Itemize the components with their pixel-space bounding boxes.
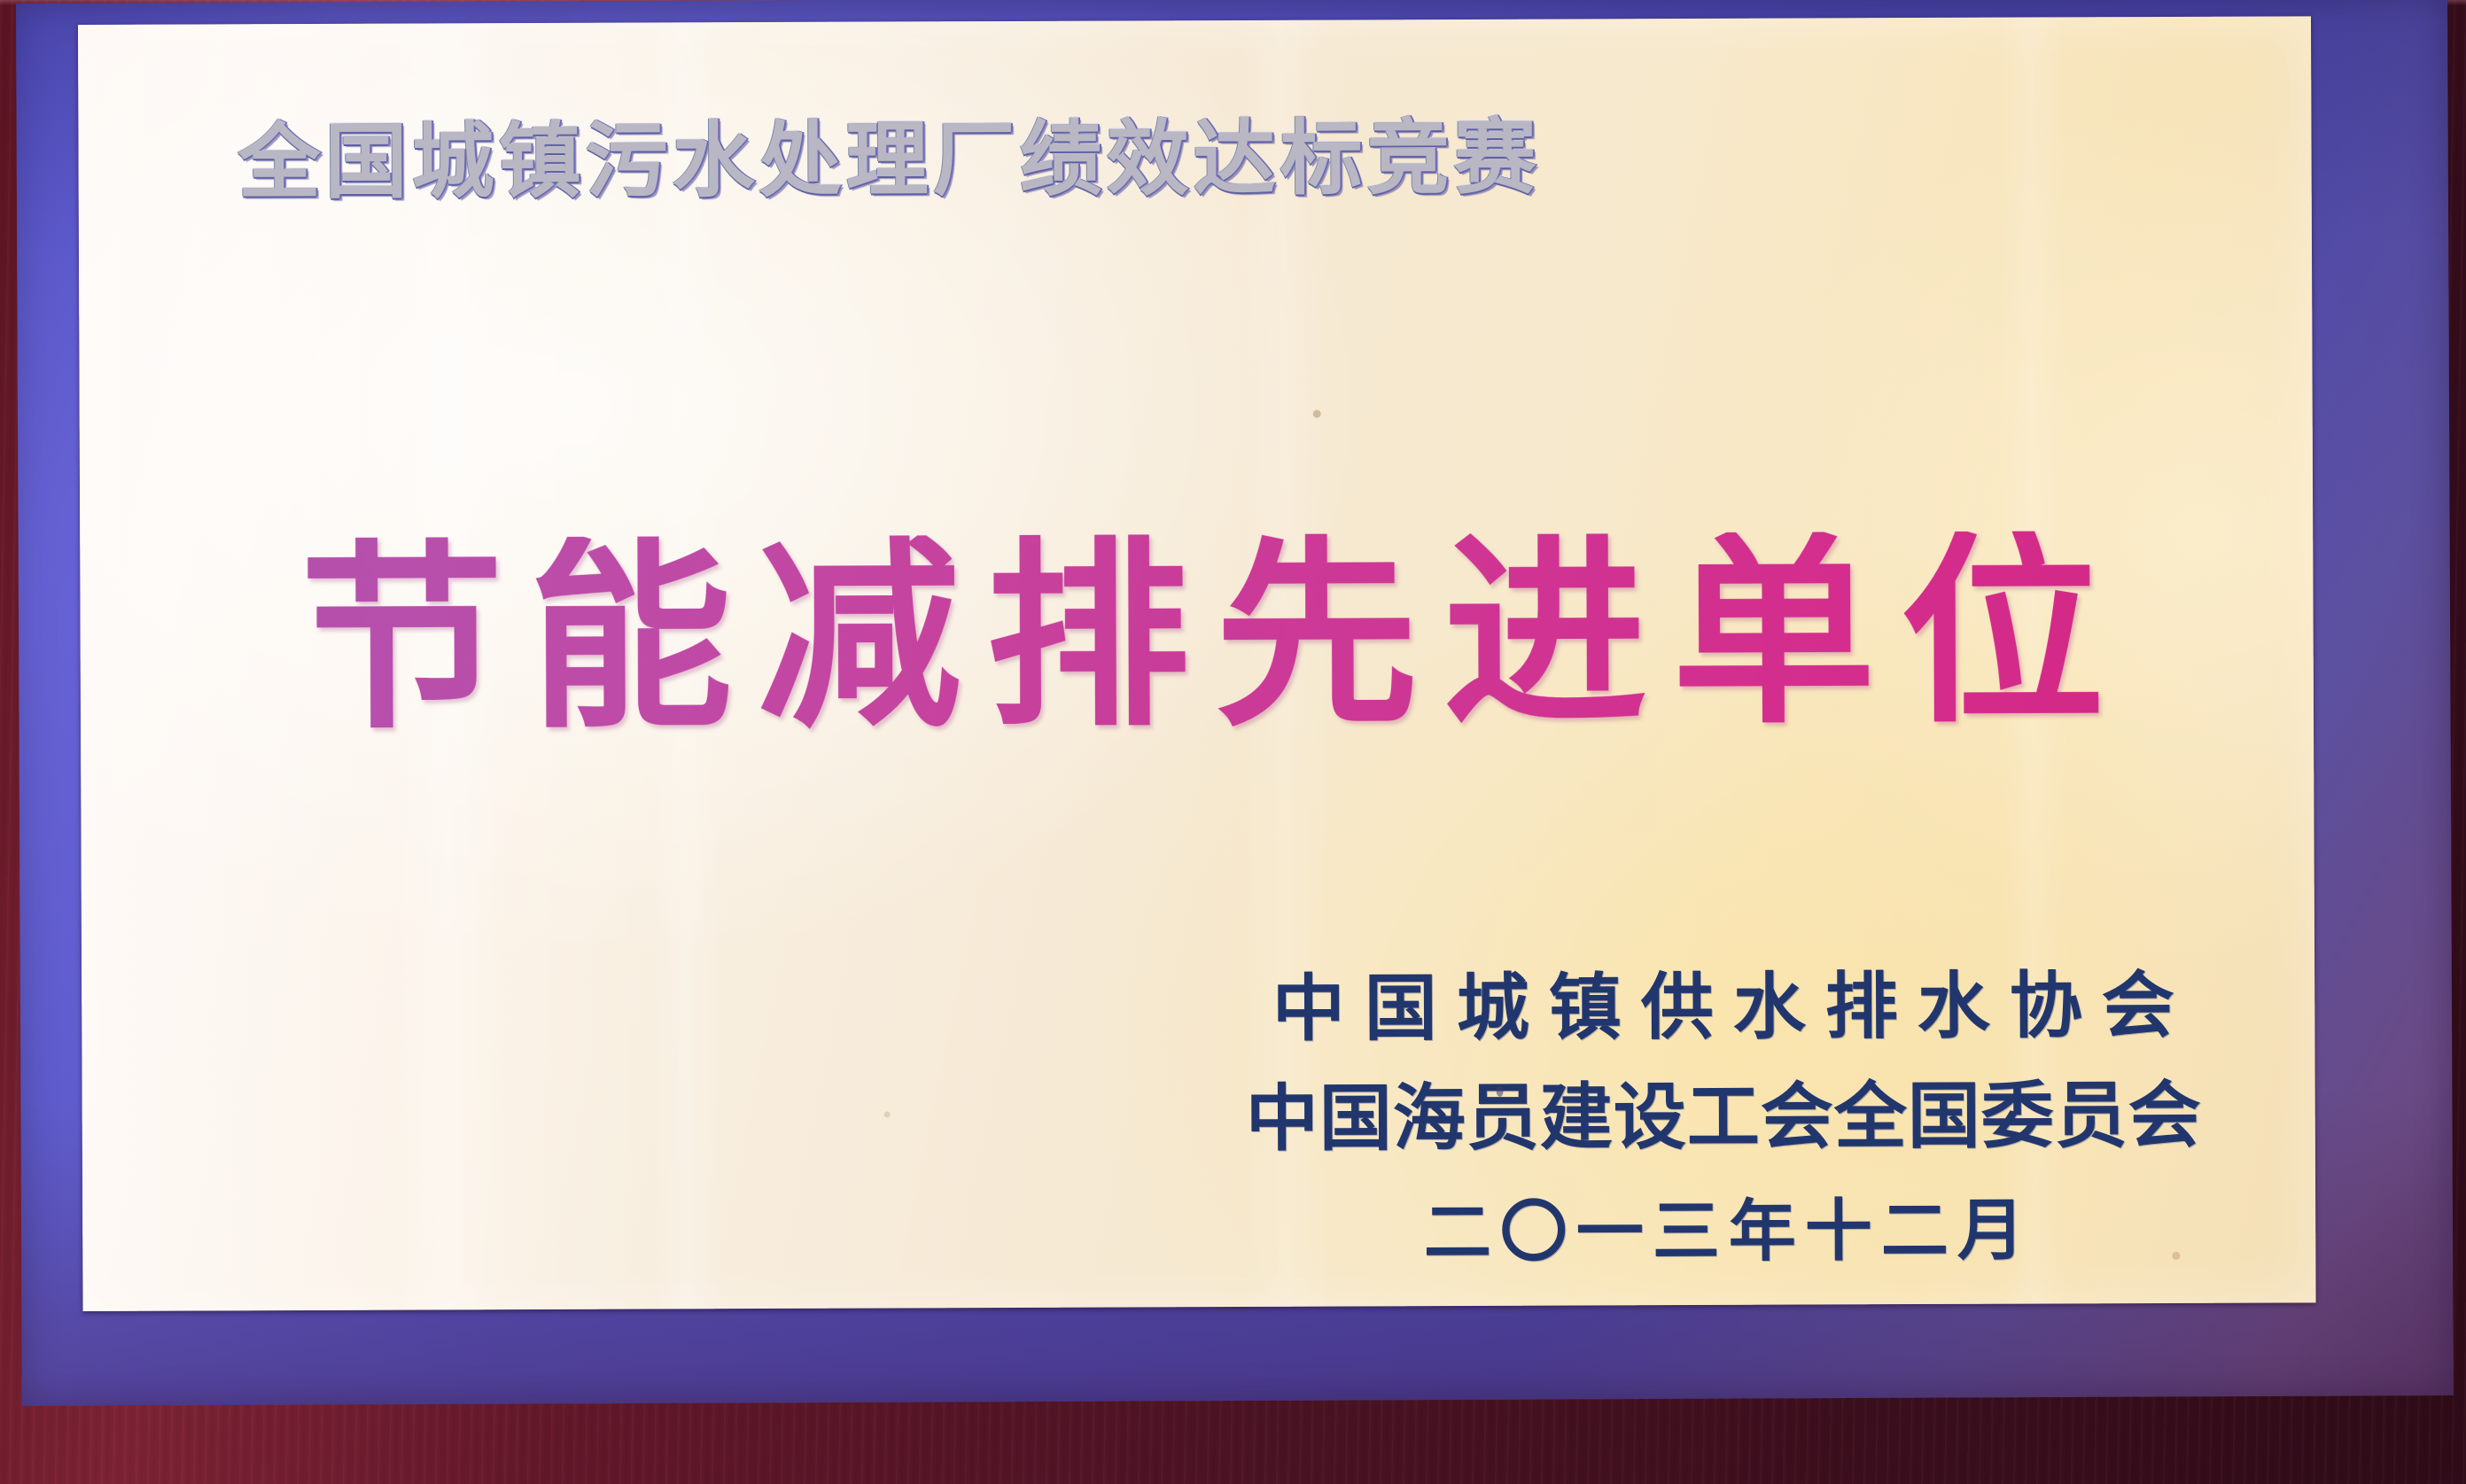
plaque-blemish-speck xyxy=(884,1111,891,1117)
plaque-blemish-speck xyxy=(1313,410,1321,418)
award-plaque-frame: 全国城镇污水处理厂绩效达标竞赛 节能减排先进单位 中国城镇供水排水协会 中国海员… xyxy=(0,0,2466,1484)
issue-date-text: 二〇一三年十二月 xyxy=(1246,1195,2202,1268)
issuing-organization-secondary: 中国海员建设工会全国委员会 xyxy=(1246,1078,2202,1156)
award-title-text: 节能减排先进单位 xyxy=(186,531,2243,742)
issuing-organization-primary: 中国城镇供水排水协会 xyxy=(1245,969,2201,1047)
signature-block: 中国城镇供水排水协会 中国海员建设工会全国委员会 二〇一三年十二月 xyxy=(1245,969,2202,1268)
competition-header-text: 全国城镇污水处理厂绩效达标竞赛 xyxy=(78,116,1700,205)
plaque-content: 全国城镇污水处理厂绩效达标竞赛 节能减排先进单位 中国城镇供水排水协会 中国海员… xyxy=(78,16,2316,1311)
plaque-face: 全国城镇污水处理厂绩效达标竞赛 节能减排先进单位 中国城镇供水排水协会 中国海员… xyxy=(78,16,2316,1311)
